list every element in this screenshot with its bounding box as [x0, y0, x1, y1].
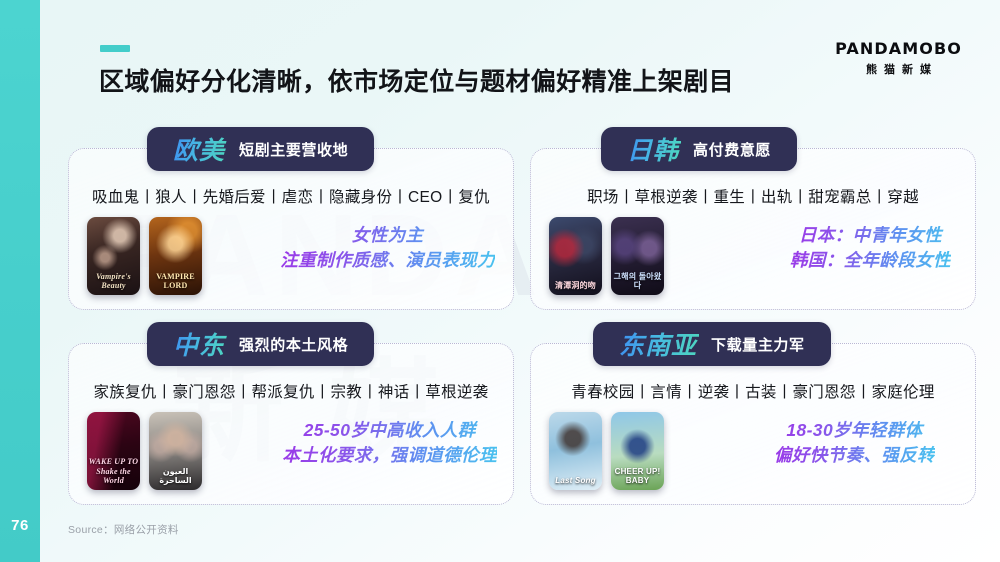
genre-tags: 吸血鬼丨狼人丨先婚后爱丨虐恋丨隐藏身份丨CEO丨复仇: [69, 185, 513, 207]
page-number: 76: [0, 517, 40, 534]
title-accent-bar: [100, 45, 130, 52]
poster-thumbnail[interactable]: CHEER UP! BABY: [611, 412, 664, 490]
poster-thumbnail[interactable]: 清潭洞的吻: [549, 217, 602, 295]
poster-thumbnail[interactable]: Last Song: [549, 412, 602, 490]
audience-insight: 女性为主 注重制作质感、演员表现力: [280, 223, 495, 273]
region-card-zhongdong: 中东 强烈的本土风格 家族复仇丨豪门恩怨丨帮派复仇丨宗教丨神话丨草根逆袭 WAK…: [68, 343, 514, 505]
region-card-header-zhongdong: 中东 强烈的本土风格: [147, 322, 374, 366]
region-subtitle: 短剧主要营收地: [239, 139, 348, 160]
region-card-header-dongnanya: 东南亚 下载量主力军: [593, 322, 831, 366]
genre-tags: 青春校园丨言情丨逆袭丨古装丨豪门恩怨丨家庭伦理: [531, 380, 975, 402]
poster-strip: 清潭洞的吻 그해의 돌아왔다: [549, 217, 664, 295]
brand-logo-cn: 熊猫新媒: [835, 61, 962, 77]
poster-thumbnail[interactable]: 그해의 돌아왔다: [611, 217, 664, 295]
poster-thumbnail[interactable]: العيون الساحرة: [149, 412, 202, 490]
region-subtitle: 高付费意愿: [693, 139, 771, 160]
region-card-header-ouemei: 欧美 短剧主要营收地: [147, 127, 374, 171]
audience-insight: 25-50岁中高收入人群 本土化要求，强调道德伦理: [282, 418, 497, 468]
region-name: 东南亚: [619, 326, 699, 362]
poster-caption: العيون الساحرة: [149, 467, 202, 485]
region-card-header-rihan: 日韩 高付费意愿: [601, 127, 797, 171]
poster-thumbnail[interactable]: VAMPIRE LORD: [149, 217, 202, 295]
region-card-dongnanya: 东南亚 下载量主力军 青春校园丨言情丨逆袭丨古装丨豪门恩怨丨家庭伦理 Last …: [530, 343, 976, 505]
poster-caption: 그해의 돌아왔다: [611, 272, 664, 290]
region-name: 中东: [173, 326, 227, 362]
slide-canvas: PANDA 新媒 76 区域偏好分化清晰，依市场定位与题材偏好精准上架剧目 PA…: [0, 0, 1000, 562]
page-title: 区域偏好分化清晰，依市场定位与题材偏好精准上架剧目: [99, 62, 734, 98]
left-accent-rail: [0, 0, 40, 562]
region-subtitle: 强烈的本土风格: [239, 334, 348, 355]
region-name: 欧美: [173, 131, 227, 167]
poster-thumbnail[interactable]: Vampire's Beauty: [87, 217, 140, 295]
region-card-ouemei: 欧美 短剧主要营收地 吸血鬼丨狼人丨先婚后爱丨虐恋丨隐藏身份丨CEO丨复仇 Va…: [68, 148, 514, 310]
audience-insight: 18-30岁年轻群体 偏好快节奏、强反转: [774, 418, 935, 468]
poster-caption: VAMPIRE LORD: [149, 272, 202, 290]
audience-insight: 日本：中青年女性 韩国：全年龄段女性: [790, 223, 951, 273]
audience-insight-line-1: 25-50岁中高收入人群: [282, 418, 497, 443]
source-note: Source：网络公开资料: [68, 522, 179, 537]
poster-caption: CHEER UP! BABY: [611, 467, 664, 485]
genre-tags: 家族复仇丨豪门恩怨丨帮派复仇丨宗教丨神话丨草根逆袭: [69, 380, 513, 402]
audience-insight-line-2: 本土化要求，强调道德伦理: [282, 443, 497, 468]
audience-insight-line-1: 女性为主: [280, 223, 495, 248]
audience-insight-line-2: 韩国：全年龄段女性: [790, 248, 951, 273]
poster-caption: Last Song: [549, 476, 602, 485]
poster-caption: WAKE UP TO Shake the World: [87, 457, 140, 485]
region-name: 日韩: [627, 131, 681, 167]
audience-insight-line-1: 日本：中青年女性: [790, 223, 951, 248]
region-subtitle: 下载量主力军: [711, 334, 805, 355]
genre-tags: 职场丨草根逆袭丨重生丨出轨丨甜宠霸总丨穿越: [531, 185, 975, 207]
brand-logo: PANDAMOBO 熊猫新媒: [835, 39, 962, 77]
poster-thumbnail[interactable]: WAKE UP TO Shake the World: [87, 412, 140, 490]
poster-strip: WAKE UP TO Shake the World العيون الساحر…: [87, 412, 202, 490]
poster-caption: 清潭洞的吻: [549, 281, 602, 290]
poster-strip: Last Song CHEER UP! BABY: [549, 412, 664, 490]
audience-insight-line-1: 18-30岁年轻群体: [774, 418, 935, 443]
region-card-rihan: 日韩 高付费意愿 职场丨草根逆袭丨重生丨出轨丨甜宠霸总丨穿越 清潭洞的吻 그해의…: [530, 148, 976, 310]
audience-insight-line-2: 偏好快节奏、强反转: [774, 443, 935, 468]
brand-logo-en: PANDAMOBO: [835, 39, 962, 58]
audience-insight-line-2: 注重制作质感、演员表现力: [280, 248, 495, 273]
poster-strip: Vampire's Beauty VAMPIRE LORD: [87, 217, 202, 295]
poster-caption: Vampire's Beauty: [87, 272, 140, 290]
